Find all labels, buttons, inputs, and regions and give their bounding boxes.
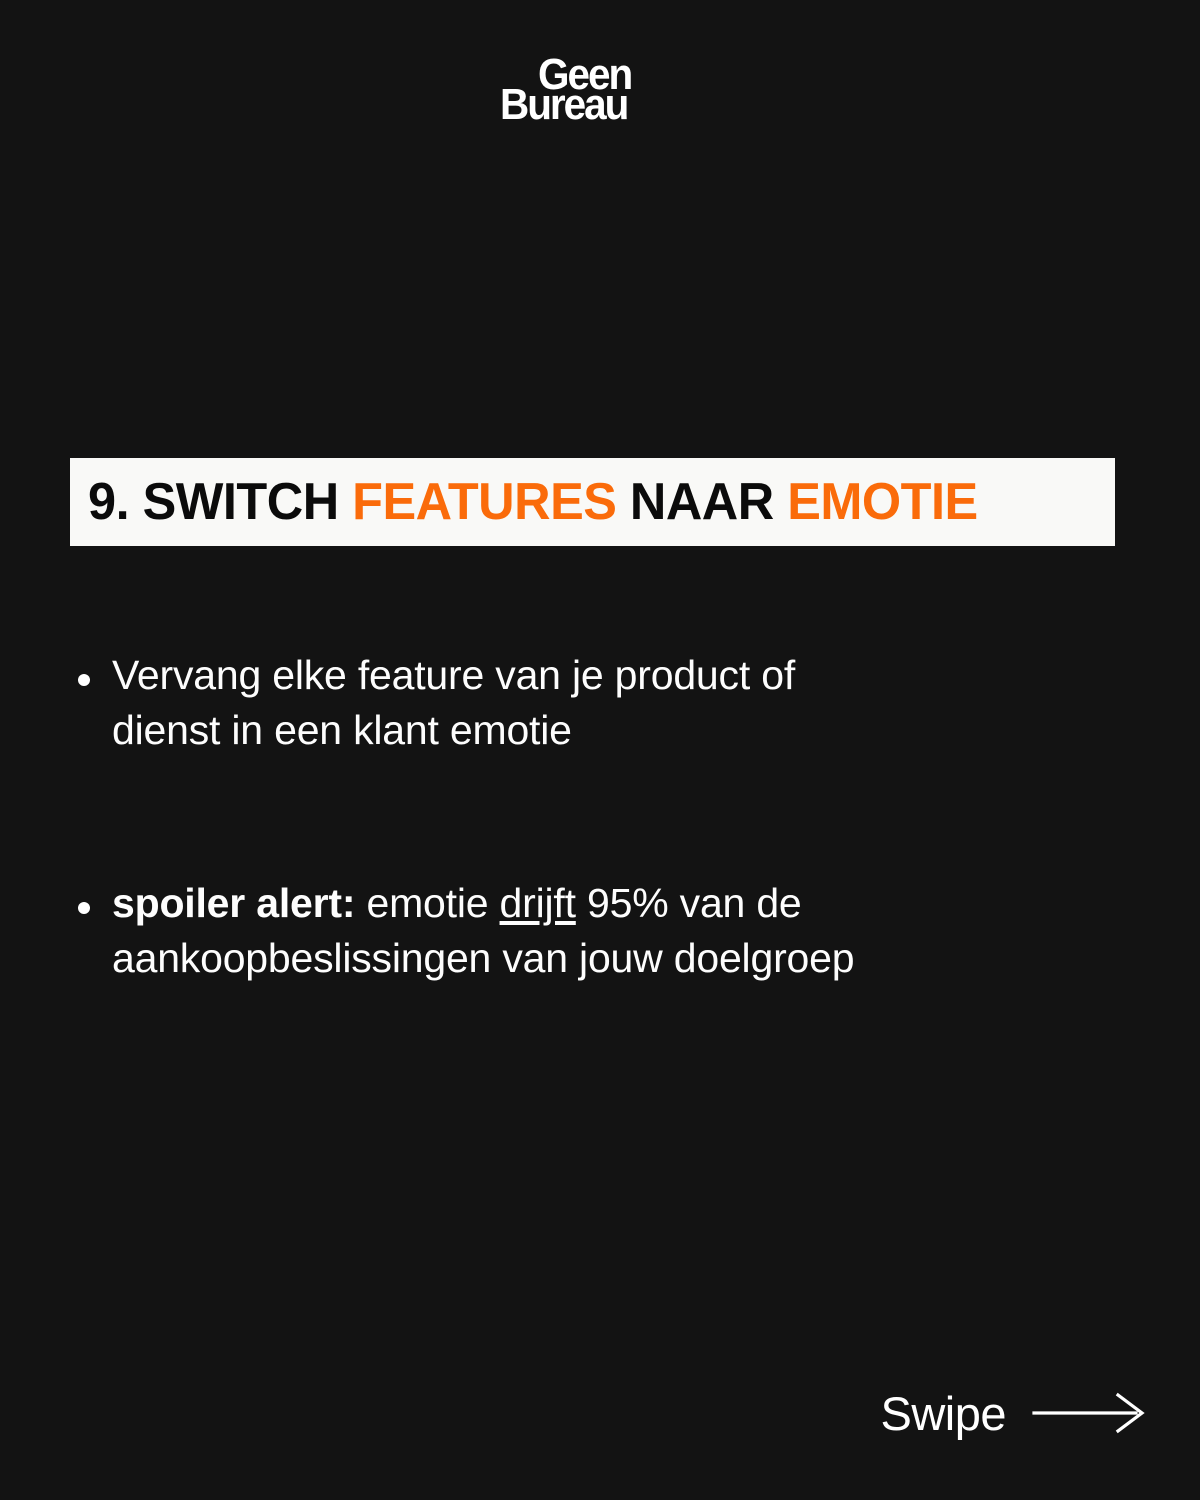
swipe-cta[interactable]: Swipe [860, 1378, 1150, 1448]
brand-logo: Geen Bureau [0, 47, 1200, 137]
swipe-label: Swipe [880, 1390, 1006, 1437]
headline-part-accent-features: FEATURES [352, 473, 616, 531]
bullet-text-2: spoiler alert: emotie drijft 95% van de … [112, 876, 872, 986]
list-item: Vervang elke feature van je product of d… [78, 648, 978, 758]
bullet-text-1: Vervang elke feature van je product of d… [112, 648, 842, 758]
bullet-dot-icon [78, 674, 90, 686]
headline-text: 9. SWITCH FEATURES NAAR EMOTIE [88, 476, 978, 528]
headline-part-accent-emotie: EMOTIE [787, 473, 977, 531]
brand-logo-line-bureau: Bureau [500, 83, 627, 127]
brand-logo-lockup: Geen Bureau [500, 47, 700, 127]
slide-canvas: Geen Bureau 9. SWITCH FEATURES NAAR EMOT… [0, 0, 1200, 1500]
bullet-dot-icon [78, 902, 90, 914]
bullet-2-bold-lead: spoiler alert: [112, 880, 355, 926]
bullet-2-underlined-word: drijft [500, 880, 576, 926]
headline-part-number: 9. SWITCH [88, 473, 352, 531]
bullet-list: Vervang elke feature van je product of d… [78, 648, 978, 986]
headline-part-middle: NAAR [616, 473, 787, 531]
bullet-2-part-1: emotie [355, 880, 499, 926]
arrow-right-icon [1032, 1391, 1150, 1435]
list-item: spoiler alert: emotie drijft 95% van de … [78, 876, 978, 986]
headline-banner: 9. SWITCH FEATURES NAAR EMOTIE [70, 458, 1115, 546]
